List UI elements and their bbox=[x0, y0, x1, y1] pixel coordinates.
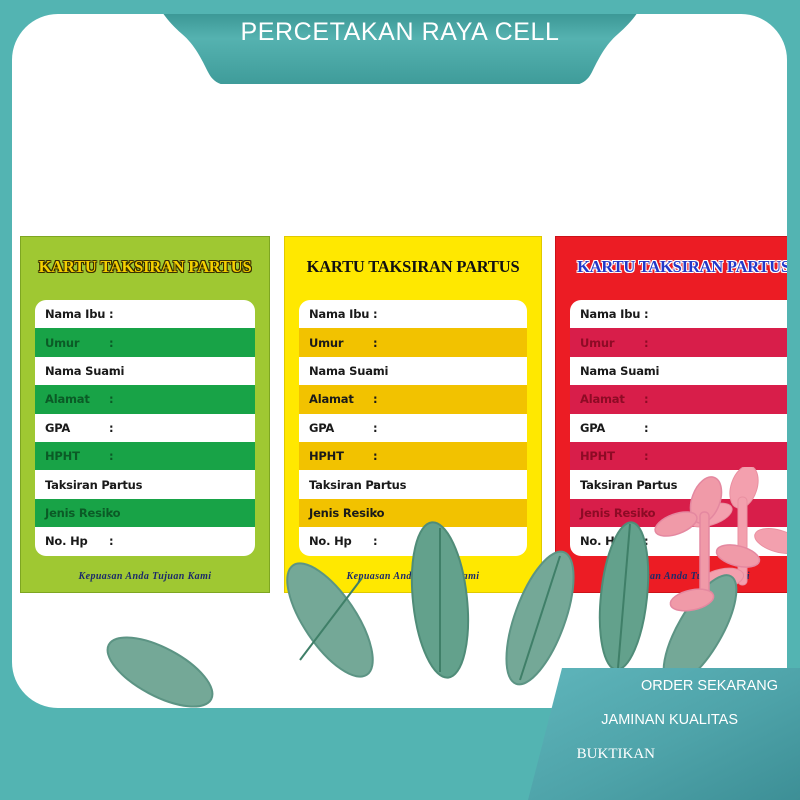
field-colon: : bbox=[373, 478, 377, 492]
field-colon: : bbox=[644, 478, 648, 492]
field-label: HPHT bbox=[299, 449, 373, 463]
cta-jaminan-kualitas[interactable]: JAMINAN KUALITAS bbox=[601, 712, 738, 728]
field-label: Taksiran Partus bbox=[299, 478, 373, 492]
field-label: Nama Suami bbox=[570, 364, 644, 378]
field-row[interactable]: Nama Ibu: bbox=[570, 300, 787, 328]
field-colon: : bbox=[644, 534, 648, 548]
card-kartu-taksiran-partus-yellow[interactable]: KARTU TAKSIRAN PARTUS Nama Ibu: Umur: Na… bbox=[284, 236, 542, 593]
card-kartu-taksiran-partus-red[interactable]: KARTU TAKSIRAN PARTUS Nama Ibu: Umur: Na… bbox=[555, 236, 787, 593]
card-title-yellow: KARTU TAKSIRAN PARTUS bbox=[285, 257, 541, 277]
field-colon: : bbox=[644, 336, 648, 350]
field-label: Alamat bbox=[570, 392, 644, 406]
card-fields-yellow: Nama Ibu: Umur: Nama Suami: Alamat: GPA:… bbox=[299, 300, 527, 556]
card-gallery: KARTU TAKSIRAN PARTUS Nama Ibu: Umur: Na… bbox=[12, 236, 787, 593]
field-colon: : bbox=[373, 364, 377, 378]
field-row[interactable]: Nama Suami: bbox=[35, 357, 255, 385]
field-row[interactable]: Taksiran Partus: bbox=[299, 470, 527, 498]
field-row[interactable]: No. Hp: bbox=[299, 527, 527, 555]
field-label: No. Hp bbox=[35, 534, 109, 548]
field-label: Umur bbox=[299, 336, 373, 350]
field-row[interactable]: Umur: bbox=[570, 328, 787, 356]
field-label: Taksiran Partus bbox=[35, 478, 109, 492]
field-label: GPA bbox=[35, 421, 109, 435]
field-colon: : bbox=[109, 392, 113, 406]
field-label: Jenis Resiko bbox=[570, 506, 644, 520]
field-label: Nama Ibu bbox=[299, 307, 373, 321]
field-row[interactable]: Nama Suami: bbox=[299, 357, 527, 385]
field-row[interactable]: Taksiran Partus: bbox=[35, 470, 255, 498]
field-row[interactable]: HPHT: bbox=[35, 442, 255, 470]
card-tagline-green: Kepuasan Anda Tujuan Kami bbox=[21, 571, 269, 582]
field-label: Alamat bbox=[35, 392, 109, 406]
page-title: PERCETAKAN RAYA CELL bbox=[0, 18, 800, 47]
field-row[interactable]: Umur: bbox=[299, 328, 527, 356]
card-title-red: KARTU TAKSIRAN PARTUS bbox=[556, 257, 787, 277]
field-label: No. Hp bbox=[570, 534, 644, 548]
field-colon: : bbox=[644, 421, 648, 435]
field-label: HPHT bbox=[35, 449, 109, 463]
field-label: Nama Suami bbox=[299, 364, 373, 378]
field-label: Umur bbox=[35, 336, 109, 350]
field-row[interactable]: Nama Ibu: bbox=[299, 300, 527, 328]
field-row[interactable]: Alamat: bbox=[299, 385, 527, 413]
field-colon: : bbox=[109, 336, 113, 350]
field-colon: : bbox=[109, 449, 113, 463]
field-label: Nama Suami bbox=[35, 364, 109, 378]
field-colon: : bbox=[644, 506, 648, 520]
field-colon: : bbox=[109, 364, 113, 378]
field-label: Nama Ibu bbox=[35, 307, 109, 321]
field-label: GPA bbox=[570, 421, 644, 435]
field-colon: : bbox=[109, 506, 113, 520]
field-label: Taksiran Partus bbox=[570, 478, 644, 492]
field-colon: : bbox=[644, 449, 648, 463]
field-colon: : bbox=[109, 478, 113, 492]
field-row[interactable]: GPA: bbox=[570, 414, 787, 442]
cta-text-group: ORDER SEKARANG JAMINAN KUALITAS BUKTIKAN bbox=[545, 660, 800, 800]
field-row[interactable]: Alamat: bbox=[570, 385, 787, 413]
field-row[interactable]: Alamat: bbox=[35, 385, 255, 413]
card-fields-green: Nama Ibu: Umur: Nama Suami: Alamat: GPA:… bbox=[35, 300, 255, 556]
field-row[interactable]: GPA: bbox=[299, 414, 527, 442]
field-colon: : bbox=[644, 392, 648, 406]
field-colon: : bbox=[644, 364, 648, 378]
field-row[interactable]: HPHT: bbox=[299, 442, 527, 470]
field-label: Umur bbox=[570, 336, 644, 350]
field-label: Nama Ibu bbox=[570, 307, 644, 321]
cta-buktikan[interactable]: BUKTIKAN bbox=[577, 746, 655, 763]
field-colon: : bbox=[109, 421, 113, 435]
field-label: Jenis Resiko bbox=[35, 506, 109, 520]
field-row[interactable]: Jenis Resiko: bbox=[299, 499, 527, 527]
field-row[interactable]: No. Hp: bbox=[35, 527, 255, 555]
field-row[interactable]: Nama Suami: bbox=[570, 357, 787, 385]
field-colon: : bbox=[373, 336, 377, 350]
card-kartu-taksiran-partus-green[interactable]: KARTU TAKSIRAN PARTUS Nama Ibu: Umur: Na… bbox=[20, 236, 270, 593]
field-colon: : bbox=[373, 506, 377, 520]
field-colon: : bbox=[644, 307, 648, 321]
field-colon: : bbox=[373, 534, 377, 548]
content-panel: KARTU TAKSIRAN PARTUS Nama Ibu: Umur: Na… bbox=[12, 14, 787, 708]
field-label: HPHT bbox=[570, 449, 644, 463]
field-colon: : bbox=[373, 392, 377, 406]
field-label: Jenis Resiko bbox=[299, 506, 373, 520]
field-colon: : bbox=[109, 534, 113, 548]
field-colon: : bbox=[373, 307, 377, 321]
field-colon: : bbox=[109, 307, 113, 321]
card-title-green: KARTU TAKSIRAN PARTUS bbox=[21, 257, 269, 277]
field-colon: : bbox=[373, 421, 377, 435]
field-row[interactable]: Nama Ibu: bbox=[35, 300, 255, 328]
field-label: GPA bbox=[299, 421, 373, 435]
card-tagline-yellow: Kepuasan Anda Tujuan Kami bbox=[285, 571, 541, 582]
field-row[interactable]: GPA: bbox=[35, 414, 255, 442]
pink-cactus-icon bbox=[674, 467, 787, 593]
field-colon: : bbox=[373, 449, 377, 463]
field-label: Alamat bbox=[299, 392, 373, 406]
field-row[interactable]: Jenis Resiko: bbox=[35, 499, 255, 527]
field-row[interactable]: Umur: bbox=[35, 328, 255, 356]
cta-order-sekarang[interactable]: ORDER SEKARANG bbox=[641, 678, 778, 694]
field-label: No. Hp bbox=[299, 534, 373, 548]
